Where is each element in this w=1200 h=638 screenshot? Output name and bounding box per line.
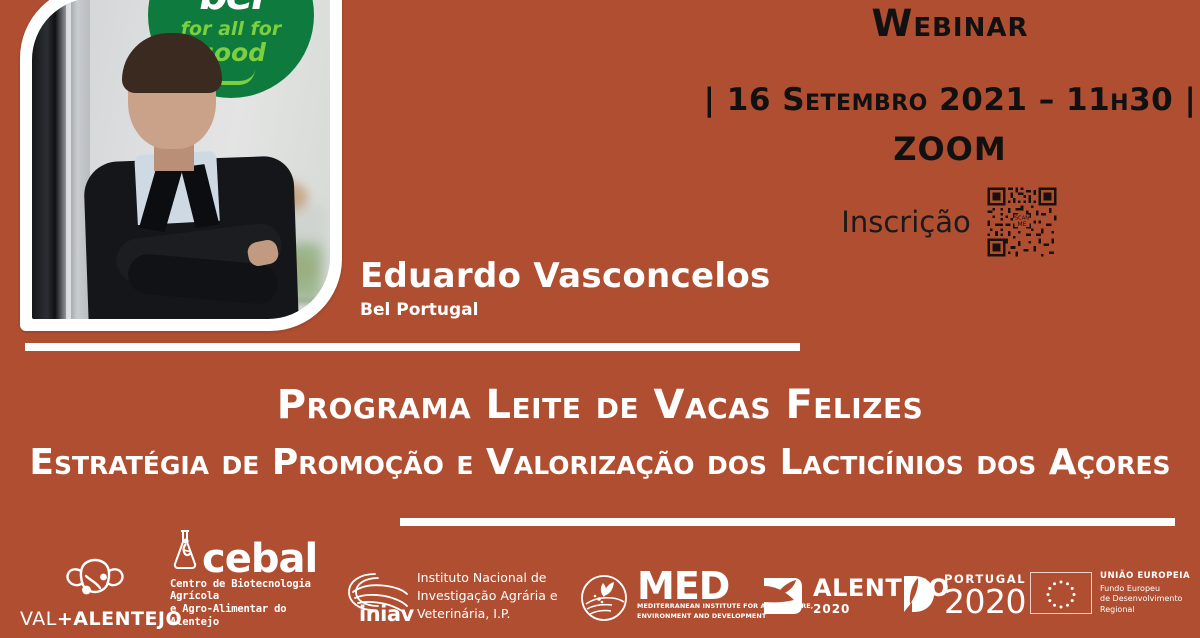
qr-code-icon: SCAN ME [985,185,1059,259]
portugal-text-block: PORTUGAL 2020 [944,574,1026,619]
divider-top [25,343,800,351]
registration-qr-code[interactable]: SCAN ME [985,185,1059,259]
speaker-organization: Bel Portugal [360,300,478,320]
eu-title: UNIÃO EUROPEIA [1100,571,1200,581]
cebal-subtitle-line1: Centro de Biotecnologia Agrícola [170,578,330,603]
logo-uniao-europeia: UNIÃO EUROPEIA Fundo Europeu de Desenvol… [1030,571,1200,616]
eu-text-block: UNIÃO EUROPEIA Fundo Europeu de Desenvol… [1100,571,1200,616]
logo-iniav: iniav Instituto Nacional de Investigação… [345,568,558,624]
qr-scan-label-2: ME [1017,221,1026,228]
val-suffix: +ALENTEJO [57,608,182,630]
footer-logos: VAL+ALENTEJO cebal Centro de Biotecnolog… [0,542,1200,638]
divider-bottom [400,518,1175,526]
cebal-wordmark-row: cebal [170,528,330,577]
iniav-wordmark: iniav [359,602,414,626]
cebal-wordmark: cebal [202,542,317,576]
registration-label: Inscrição [841,205,970,239]
event-platform: ZOOM [700,130,1200,168]
sheep-head-icon [20,558,170,606]
iniav-subtitle-line1: Instituto Nacional de [417,569,558,587]
speaker-hair [122,33,222,93]
val-prefix: VAL [20,608,57,630]
field-sprout-circle-icon [578,570,630,622]
registration-row: Inscrição [700,185,1200,259]
speaker-name: Eduardo Vasconcelos [360,256,771,296]
iniav-subtitle: Instituto Nacional de Investigação Agrár… [417,569,558,622]
eu-subtitle: Fundo Europeu de Desenvolvimento Regiona… [1100,584,1200,616]
page-subtitle: Estratégia de Promoção e Valorização dos… [0,442,1200,483]
logo-portugal-2020: PORTUGAL 2020 [898,572,1026,620]
logo-cebal: cebal Centro de Biotecnologia Agrícola e… [170,528,330,629]
speaker-photo-frame: bel for all for good [20,0,342,331]
alentejo-swoosh-icon [760,574,806,618]
swirl-icon: iniav [345,568,409,624]
flask-icon [170,528,200,577]
cebal-subtitle-line2: e Agro-Alimentar do Alentejo [170,603,330,628]
eu-subtitle-line1: Fundo Europeu [1100,584,1200,595]
portugal-leaf-icon [898,572,938,620]
page-title: Programa Leite de Vacas Felizes [0,382,1200,428]
portugal-year: 2020 [944,585,1026,618]
speaker-figure [76,19,306,319]
eu-flag-icon [1030,572,1092,614]
logo-val-alentejo: VAL+ALENTEJO [20,558,170,630]
logo-val-alentejo-label: VAL+ALENTEJO [20,608,170,630]
event-datetime: | 16 Setembro 2021 – 11h30 | [700,82,1200,118]
iniav-subtitle-line3: Veterinária, I.P. [417,605,558,623]
bel-wordmark: bel [148,0,314,16]
iniav-subtitle-line2: Investigação Agrária e [417,587,558,605]
eu-subtitle-line2: de Desenvolvimento Regional [1100,594,1200,616]
event-type-heading: Webinar [700,2,1200,45]
speaker-photo: bel for all for good [32,0,330,319]
